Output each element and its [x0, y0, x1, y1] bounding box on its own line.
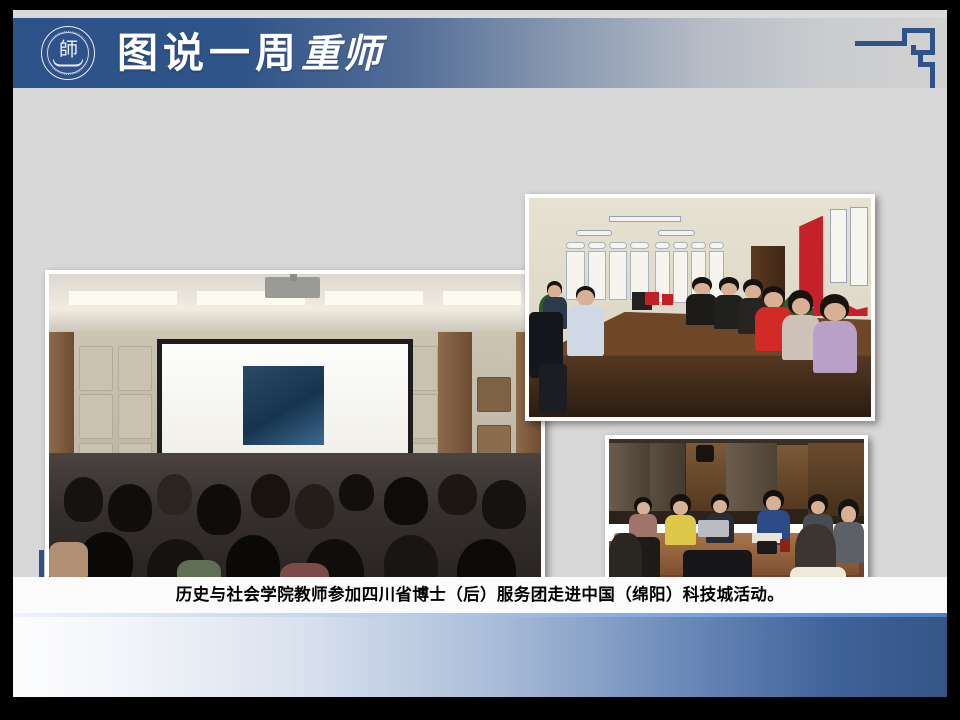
title-cursive-text: 重师: [301, 31, 383, 77]
seal-book-icon: [53, 60, 83, 67]
photo-meeting-room: [525, 194, 875, 421]
slide-footer-band: [13, 617, 947, 697]
slide-content-area: [13, 88, 947, 598]
seal-glyph: 師: [59, 40, 77, 59]
presentation-slide: 師 图说一周重师: [13, 10, 947, 697]
caption-area: 历史与社会学院教师参加四川省博士（后）服务团走进中国（绵阳）科技城活动。: [13, 577, 947, 613]
page-title: 图说一周重师: [117, 27, 383, 80]
slide-header-banner: 師 图说一周重师: [13, 18, 947, 88]
slide-caption: 历史与社会学院教师参加四川省博士（后）服务团走进中国（绵阳）科技城活动。: [13, 581, 947, 605]
title-main-text: 图说一周: [117, 29, 301, 77]
photo-lecture-hall: [45, 270, 545, 622]
university-seal-logo: 師: [41, 26, 95, 80]
